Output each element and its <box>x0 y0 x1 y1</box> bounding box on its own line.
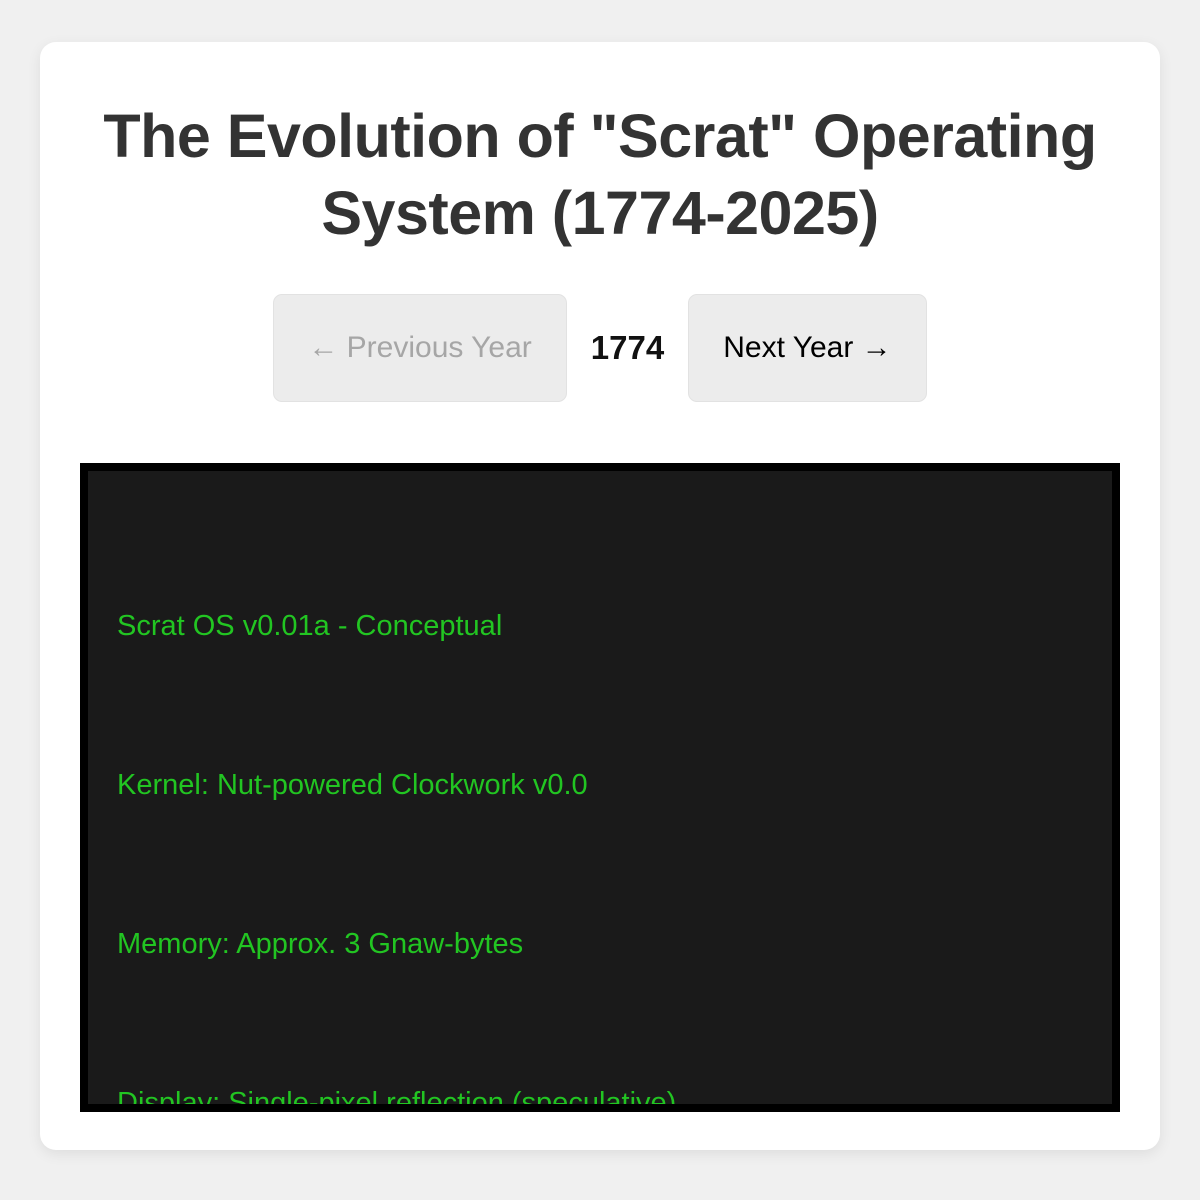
terminal-line: Memory: Approx. 3 Gnaw-bytes <box>117 930 1112 959</box>
next-year-button[interactable]: Next Year → <box>688 294 926 402</box>
previous-year-button[interactable]: ← Previous Year <box>273 294 566 402</box>
page-root: The Evolution of "Scrat" Operating Syste… <box>0 0 1200 1200</box>
page-title: The Evolution of "Scrat" Operating Syste… <box>40 42 1160 252</box>
main-card: The Evolution of "Scrat" Operating Syste… <box>40 42 1160 1150</box>
current-year-label: 1774 <box>567 329 688 367</box>
terminal-window: Scrat OS v0.01a - Conceptual Kernel: Nut… <box>80 463 1120 1112</box>
terminal-line: Kernel: Nut-powered Clockwork v0.0 <box>117 771 1112 800</box>
terminal-screen: Scrat OS v0.01a - Conceptual Kernel: Nut… <box>88 471 1112 1104</box>
year-navigation: ← Previous Year 1774 Next Year → <box>40 294 1160 402</box>
terminal-line: Display: Single-pixel reflection (specul… <box>117 1089 1112 1104</box>
terminal-line: Scrat OS v0.01a - Conceptual <box>117 612 1112 641</box>
